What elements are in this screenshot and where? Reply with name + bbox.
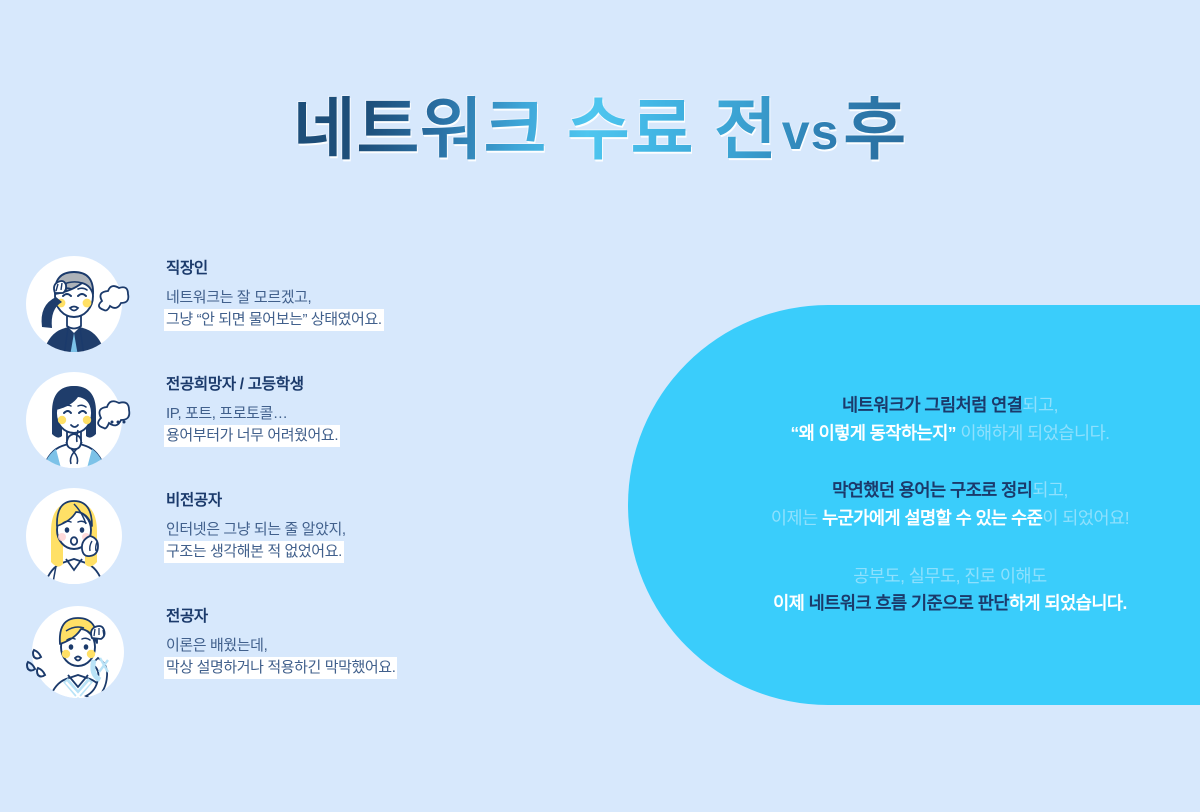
testimonial-line-1: IP, 포트, 프로토콜… — [166, 403, 288, 425]
after-text-run: “왜 이렇게 동작하는지” — [790, 423, 956, 443]
after-line: 이제는 누군가에게 설명할 수 있는 수준이 되었어요! — [724, 505, 1176, 533]
testimonial-line-2: 그냥 “안 되면 물어보는” 상태였어요. — [166, 309, 382, 331]
after-statement-block: 공부도, 실무도, 진로 이해도 이제 네트워크 흐름 기준으로 판단하게 되었… — [724, 563, 1176, 618]
after-statement-block: 네트워크가 그림처럼 연결되고, “왜 이렇게 동작하는지” 이해하게 되었습니… — [724, 392, 1176, 447]
puzzled-blonde-woman-avatar — [22, 484, 134, 588]
after-text-run: 이제는 — [771, 508, 822, 528]
title-part-after: 후 — [843, 92, 907, 168]
after-text-run: 공부도, 실무도, 진로 이해도 — [853, 566, 1046, 586]
testimonial-text: 전공자 이론은 배웠는데, 막상 설명하거나 적용하긴 막막했어요. — [134, 600, 395, 679]
person-role: 전공자 — [166, 608, 395, 627]
after-text-run: 막연했던 용어는 구조로 정리 — [832, 480, 1032, 500]
testimonial-line-1: 인터넷은 그냥 되는 줄 알았지, — [166, 519, 346, 541]
after-text-run: 하게 되었습니다. — [1009, 593, 1127, 613]
after-text-run: 이 되었어요! — [1042, 508, 1129, 528]
testimonial-line-1: 이론은 배웠는데, — [166, 635, 267, 657]
before-testimonial-list: 직장인 네트워크는 잘 모르겠고, 그냥 “안 되면 물어보는” 상태였어요. — [22, 252, 622, 716]
title-part-before: 네트워크 수료 전 — [293, 92, 778, 168]
testimonial-text: 전공희망자 / 고등학생 IP, 포트, 프로토콜… 용어부터가 너무 어려웠어… — [134, 368, 338, 447]
after-text-run: 이제 — [773, 593, 809, 613]
title-vs-label: vs — [778, 104, 844, 160]
after-line: 막연했던 용어는 구조로 정리되고, — [724, 477, 1176, 505]
testimonial-line-2: 용어부터가 너무 어려웠어요. — [166, 425, 338, 447]
person-role: 직장인 — [166, 260, 382, 279]
page-title: 네트워크 수료 전vs후 — [293, 96, 907, 164]
person-role: 비전공자 — [166, 492, 346, 511]
list-item: 직장인 네트워크는 잘 모르겠고, 그냥 “안 되면 물어보는” 상태였어요. — [22, 252, 622, 368]
thinking-schoolgirl-avatar — [22, 368, 134, 472]
after-text-run: 되고, — [1022, 395, 1058, 415]
after-text-run: 네트워크 흐름 기준으로 판단 — [809, 593, 1009, 613]
list-item: 전공자 이론은 배웠는데, 막상 설명하거나 적용하긴 막막했어요. — [22, 600, 622, 716]
page-title-area: 네트워크 수료 전vs후 — [0, 96, 1200, 196]
after-result-panel: 네트워크가 그림처럼 연결되고, “왜 이렇게 동작하는지” 이해하게 되었습니… — [628, 305, 1200, 705]
person-role: 전공희망자 / 고등학생 — [166, 376, 338, 395]
testimonial-text: 직장인 네트워크는 잘 모르겠고, 그냥 “안 되면 물어보는” 상태였어요. — [134, 252, 382, 331]
after-line: 공부도, 실무도, 진로 이해도 — [724, 563, 1176, 591]
after-text-run: 이해하게 되었습니다. — [956, 423, 1110, 443]
after-text-run: 누군가에게 설명할 수 있는 수준 — [822, 508, 1042, 528]
testimonial-line-1: 네트워크는 잘 모르겠고, — [166, 287, 311, 309]
list-item: 전공희망자 / 고등학생 IP, 포트, 프로토콜… 용어부터가 너무 어려웠어… — [22, 368, 622, 484]
after-line: 네트워크가 그림처럼 연결되고, — [724, 392, 1176, 420]
list-item: 비전공자 인터넷은 그냥 되는 줄 알았지, 구조는 생각해본 적 없었어요. — [22, 484, 622, 600]
testimonial-line-2: 구조는 생각해본 적 없었어요. — [166, 541, 342, 563]
after-text-run: 네트워크가 그림처럼 연결 — [842, 395, 1022, 415]
testimonial-line-2: 막상 설명하거나 적용하긴 막막했어요. — [166, 657, 395, 679]
after-line: “왜 이렇게 동작하는지” 이해하게 되었습니다. — [724, 420, 1176, 448]
head-scratching-blonde-student-avatar — [22, 600, 134, 704]
after-statement-block: 막연했던 용어는 구조로 정리되고, 이제는 누군가에게 설명할 수 있는 수준… — [724, 477, 1176, 532]
worried-businessman-gray-hair-avatar — [22, 252, 134, 356]
after-line: 이제 네트워크 흐름 기준으로 판단하게 되었습니다. — [724, 590, 1176, 618]
testimonial-text: 비전공자 인터넷은 그냥 되는 줄 알았지, 구조는 생각해본 적 없었어요. — [134, 484, 346, 563]
after-text-run: 되고, — [1032, 480, 1068, 500]
